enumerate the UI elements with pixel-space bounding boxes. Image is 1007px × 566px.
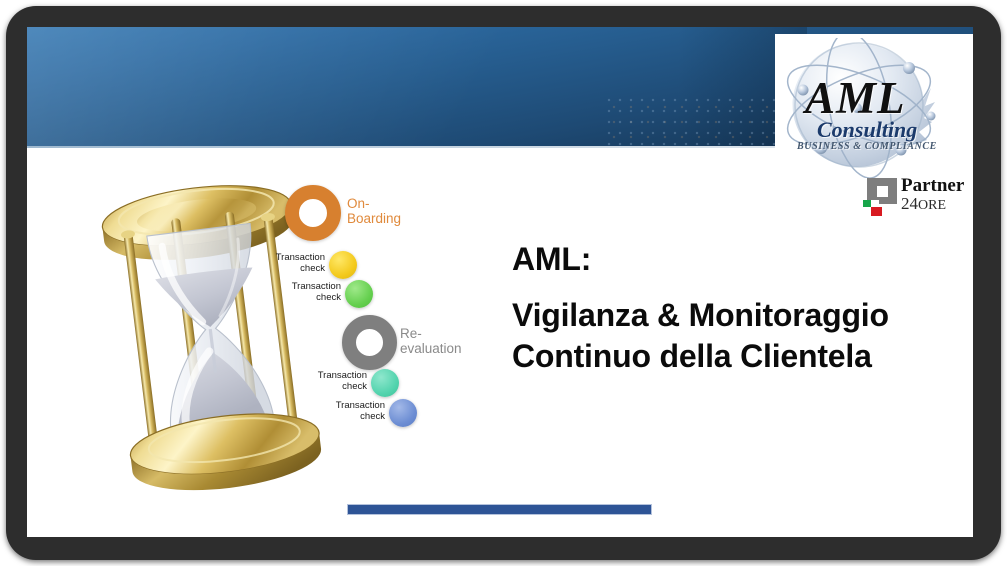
logo-panel: AML Consulting BUSINESS & COMPLIANCE Par… <box>775 34 973 216</box>
reevaluation-ring-icon <box>342 315 397 370</box>
partner-word-text: Partner <box>901 176 964 195</box>
transaction-check-dot-2 <box>345 280 373 308</box>
transaction-check-label-2: Transaction check <box>275 282 341 303</box>
logo-consulting-text: Consulting <box>817 119 917 141</box>
title-line-2: Vigilanza & Monitoraggio <box>512 295 952 337</box>
slide-title: AML: Vigilanza & Monitoraggio Continuo d… <box>512 239 952 378</box>
onboarding-label: On-Boarding <box>347 197 417 226</box>
transaction-check-label-1: Transaction check <box>259 253 325 274</box>
partner-square-icon <box>863 178 897 212</box>
partner-number: 24 <box>901 194 918 213</box>
transaction-check-dot-3 <box>371 369 399 397</box>
reevaluation-label: Re-evaluation <box>400 327 480 356</box>
partner-24ore-text: 24ORE <box>901 195 946 213</box>
accent-bar <box>347 504 652 515</box>
process-diagram: On-Boarding Transaction check Transactio… <box>237 167 487 437</box>
logo-tagline-text: BUSINESS & COMPLIANCE <box>797 142 937 152</box>
device-frame: On-Boarding Transaction check Transactio… <box>6 6 1001 560</box>
screen: On-Boarding Transaction check Transactio… <box>27 27 973 537</box>
partner-ore: ORE <box>918 198 946 213</box>
logo-aml-text: AML <box>805 76 906 121</box>
transaction-check-label-3: Transaction check <box>301 371 367 392</box>
title-line-1: AML: <box>512 239 952 281</box>
presentation-slide: On-Boarding Transaction check Transactio… <box>27 27 973 537</box>
transaction-check-label-4: Transaction check <box>319 401 385 422</box>
partner-24ore-badge: Partner 24ORE <box>863 176 971 216</box>
onboarding-ring-icon <box>285 185 341 241</box>
title-line-3: Continuo della Clientela <box>512 336 952 378</box>
transaction-check-dot-1 <box>329 251 357 279</box>
transaction-check-dot-4 <box>389 399 417 427</box>
